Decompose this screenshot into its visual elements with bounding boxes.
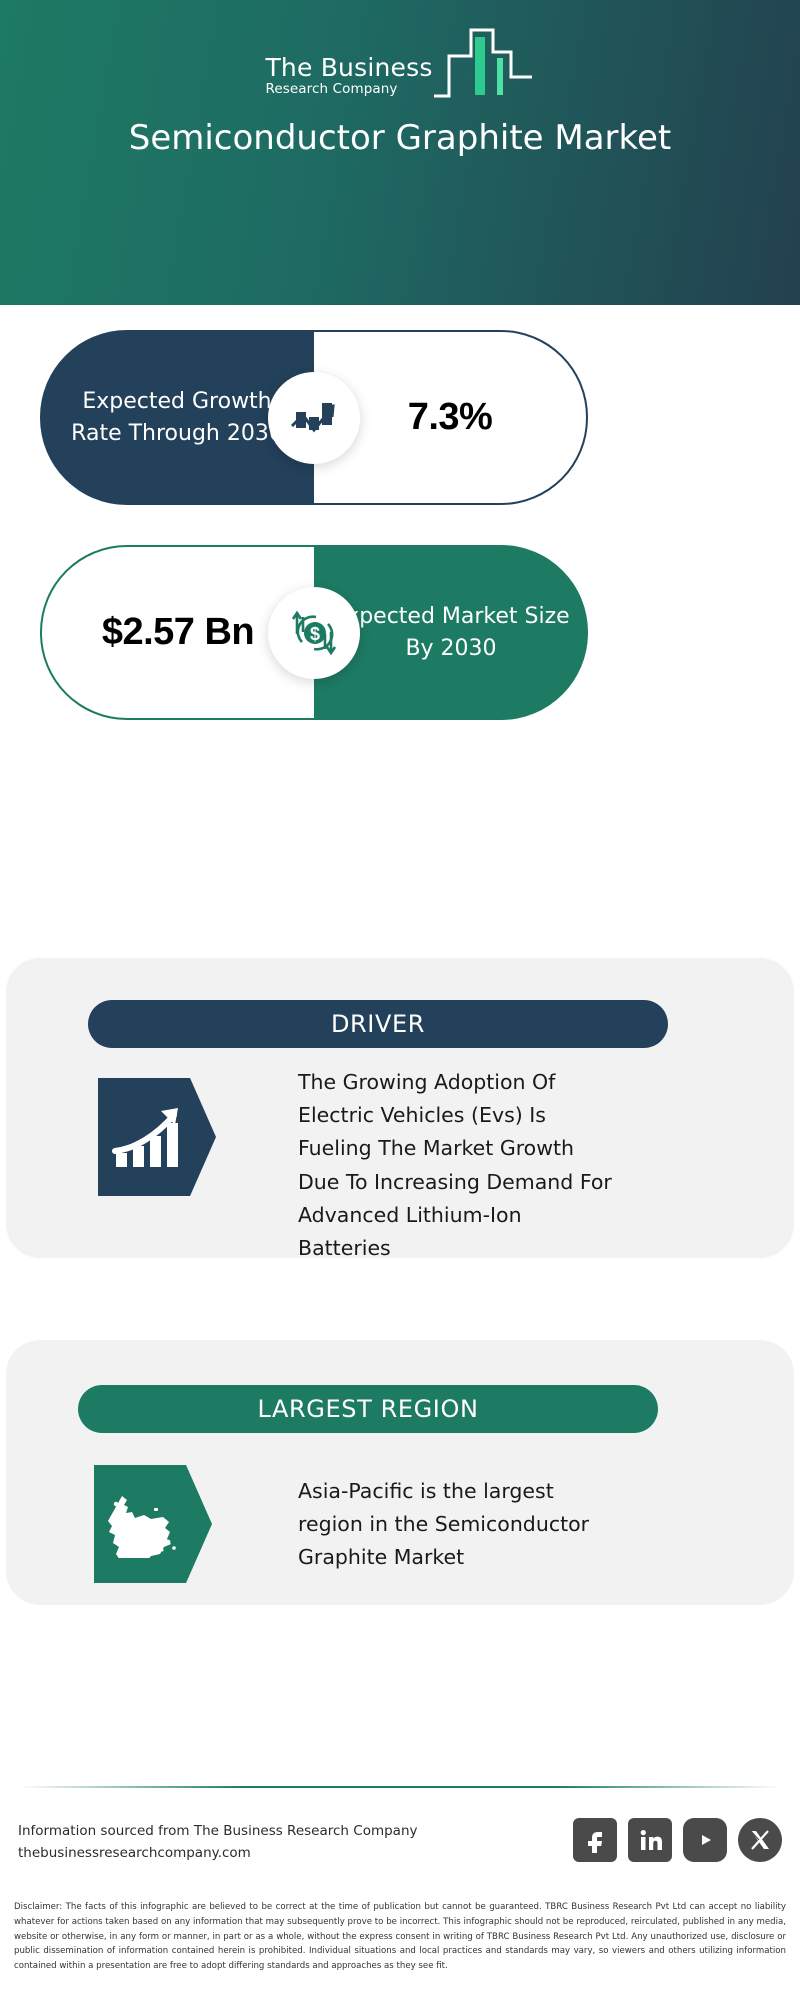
- header-banner: The Business Research Company Semiconduc…: [0, 0, 800, 305]
- footer-divider: [18, 1786, 782, 1788]
- company-logo: The Business Research Company: [0, 22, 800, 98]
- largest-region-pill: LARGEST REGION: [78, 1385, 658, 1433]
- driver-pill-label: DRIVER: [331, 1010, 425, 1038]
- logo-line-2: Research Company: [265, 80, 397, 98]
- growth-rate-badge: [268, 372, 360, 464]
- rising-bar-chart-icon: [112, 1103, 186, 1171]
- social-links: [573, 1818, 782, 1862]
- disclaimer-text: Disclaimer: The facts of this infographi…: [14, 1900, 786, 1974]
- youtube-icon[interactable]: [683, 1818, 727, 1862]
- stat-card-growth-rate: Expected Growth Rate Through 2030 7.3%: [40, 330, 588, 505]
- infographic-page: The Business Research Company Semiconduc…: [0, 0, 800, 2000]
- source-line-1: Information sourced from The Business Re…: [18, 1821, 458, 1843]
- dollar-refresh-icon: $: [285, 604, 343, 662]
- facebook-icon[interactable]: [573, 1818, 617, 1862]
- page-title: Semiconductor Graphite Market: [80, 116, 720, 161]
- x-glyph: [748, 1828, 772, 1852]
- svg-text:$: $: [310, 624, 320, 644]
- growth-rate-value: 7.3%: [408, 396, 493, 439]
- source-line-2[interactable]: thebusinessresearchcompany.com: [18, 1843, 458, 1865]
- asia-map-icon: [106, 1490, 184, 1558]
- largest-region-body-text: Asia-Pacific is the largest region in th…: [298, 1475, 618, 1575]
- disclaimer-body: Disclaimer: The facts of this infographi…: [14, 1900, 786, 1974]
- driver-pill: DRIVER: [88, 1000, 668, 1048]
- logo-line-1: The Business: [265, 55, 432, 80]
- bar-chart-logo-icon: [431, 22, 535, 100]
- source-credit: Information sourced from The Business Re…: [18, 1821, 458, 1865]
- largest-region-pill-label: LARGEST REGION: [257, 1395, 478, 1423]
- linkedin-icon[interactable]: [628, 1818, 672, 1862]
- stat-card-market-size: $2.57 Bn Expected Market Size By 2030 $: [40, 545, 588, 720]
- market-size-badge: $: [268, 587, 360, 679]
- logo-wordmark: The Business Research Company: [265, 55, 432, 98]
- linkedin-glyph: [637, 1827, 663, 1853]
- growth-chart-arrow-icon: [286, 390, 342, 446]
- youtube-glyph: [690, 1829, 720, 1851]
- facebook-glyph: [583, 1827, 607, 1853]
- driver-body-text: The Growing Adoption Of Electric Vehicle…: [298, 1066, 618, 1265]
- x-twitter-icon[interactable]: [738, 1818, 782, 1862]
- market-size-value: $2.57 Bn: [102, 611, 254, 654]
